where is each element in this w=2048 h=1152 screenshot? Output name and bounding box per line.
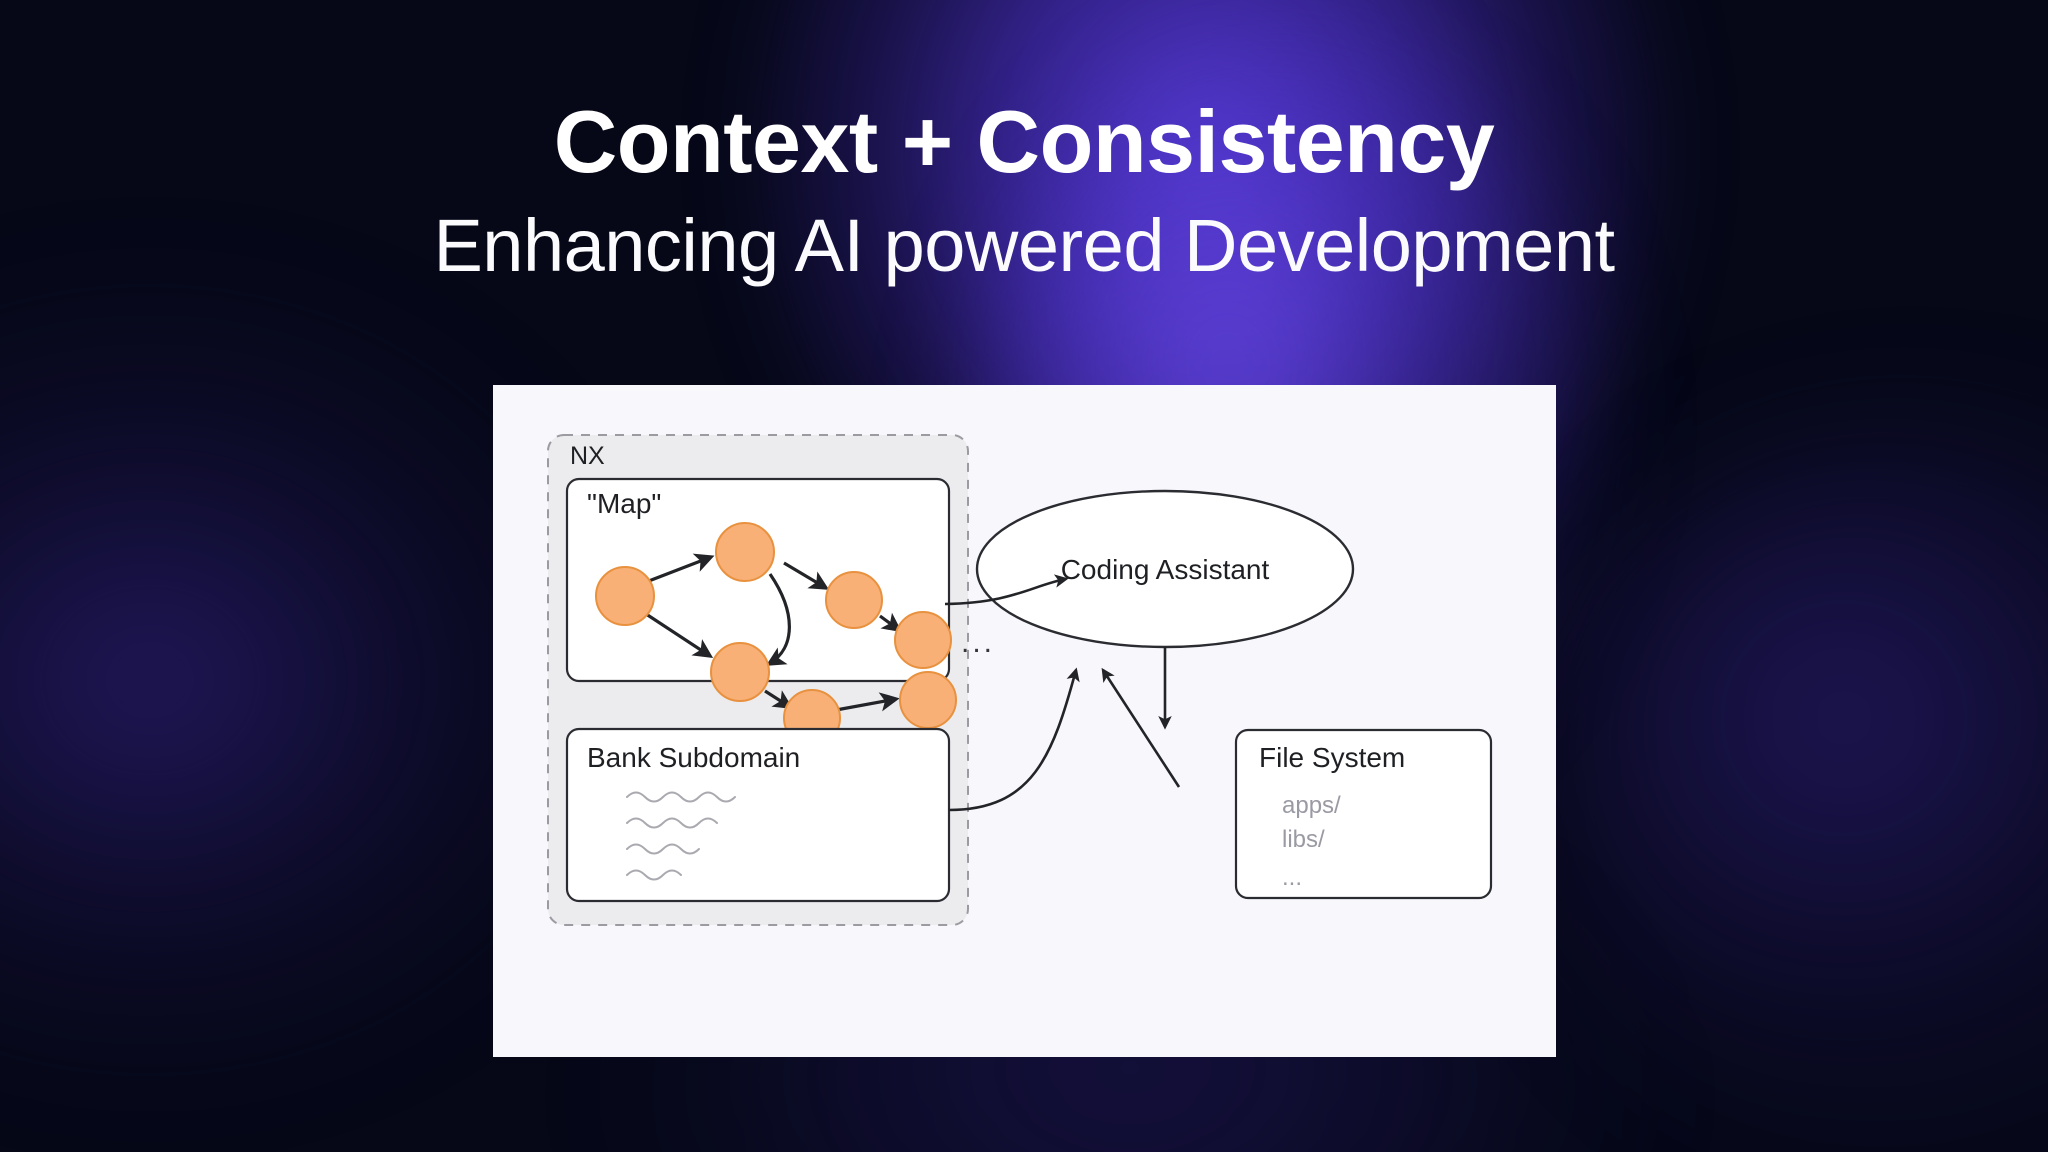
- file-system-item-libs: libs/: [1282, 826, 1325, 853]
- graph-node: [900, 672, 956, 728]
- bank-subdomain-label: Bank Subdomain: [587, 742, 800, 773]
- slide-title: Context + Consistency: [0, 96, 2048, 188]
- graph-node: [716, 523, 774, 581]
- slide-canvas: Context + Consistency Enhancing AI power…: [0, 0, 2048, 1152]
- graph-node: [596, 567, 654, 625]
- file-system-item-more: ...: [1282, 864, 1302, 891]
- file-system-label: File System: [1259, 742, 1405, 773]
- diagram-panel: NX "Map": [493, 385, 1556, 1057]
- nx-label: NX: [570, 442, 605, 470]
- map-box-label: "Map": [587, 488, 661, 519]
- graph-node: [895, 612, 951, 668]
- slide-heading: Context + Consistency Enhancing AI power…: [0, 96, 2048, 296]
- background-glow-right: [1540, 430, 2048, 1150]
- graph-node: [826, 572, 882, 628]
- slide-subtitle: Enhancing AI powered Development: [0, 196, 2048, 296]
- graph-node: [711, 643, 769, 701]
- bank-subdomain-box[interactable]: Bank Subdomain: [567, 729, 949, 901]
- graph-ellipsis: ...: [961, 626, 995, 659]
- file-system-item-apps: apps/: [1282, 792, 1341, 819]
- coding-assistant-label: Coding Assistant: [1061, 554, 1270, 585]
- coding-assistant-node[interactable]: Coding Assistant: [977, 491, 1353, 647]
- edge-file-system-to-coding-assistant: [1103, 670, 1179, 787]
- file-system-box[interactable]: File System apps/ libs/ ...: [1236, 730, 1491, 898]
